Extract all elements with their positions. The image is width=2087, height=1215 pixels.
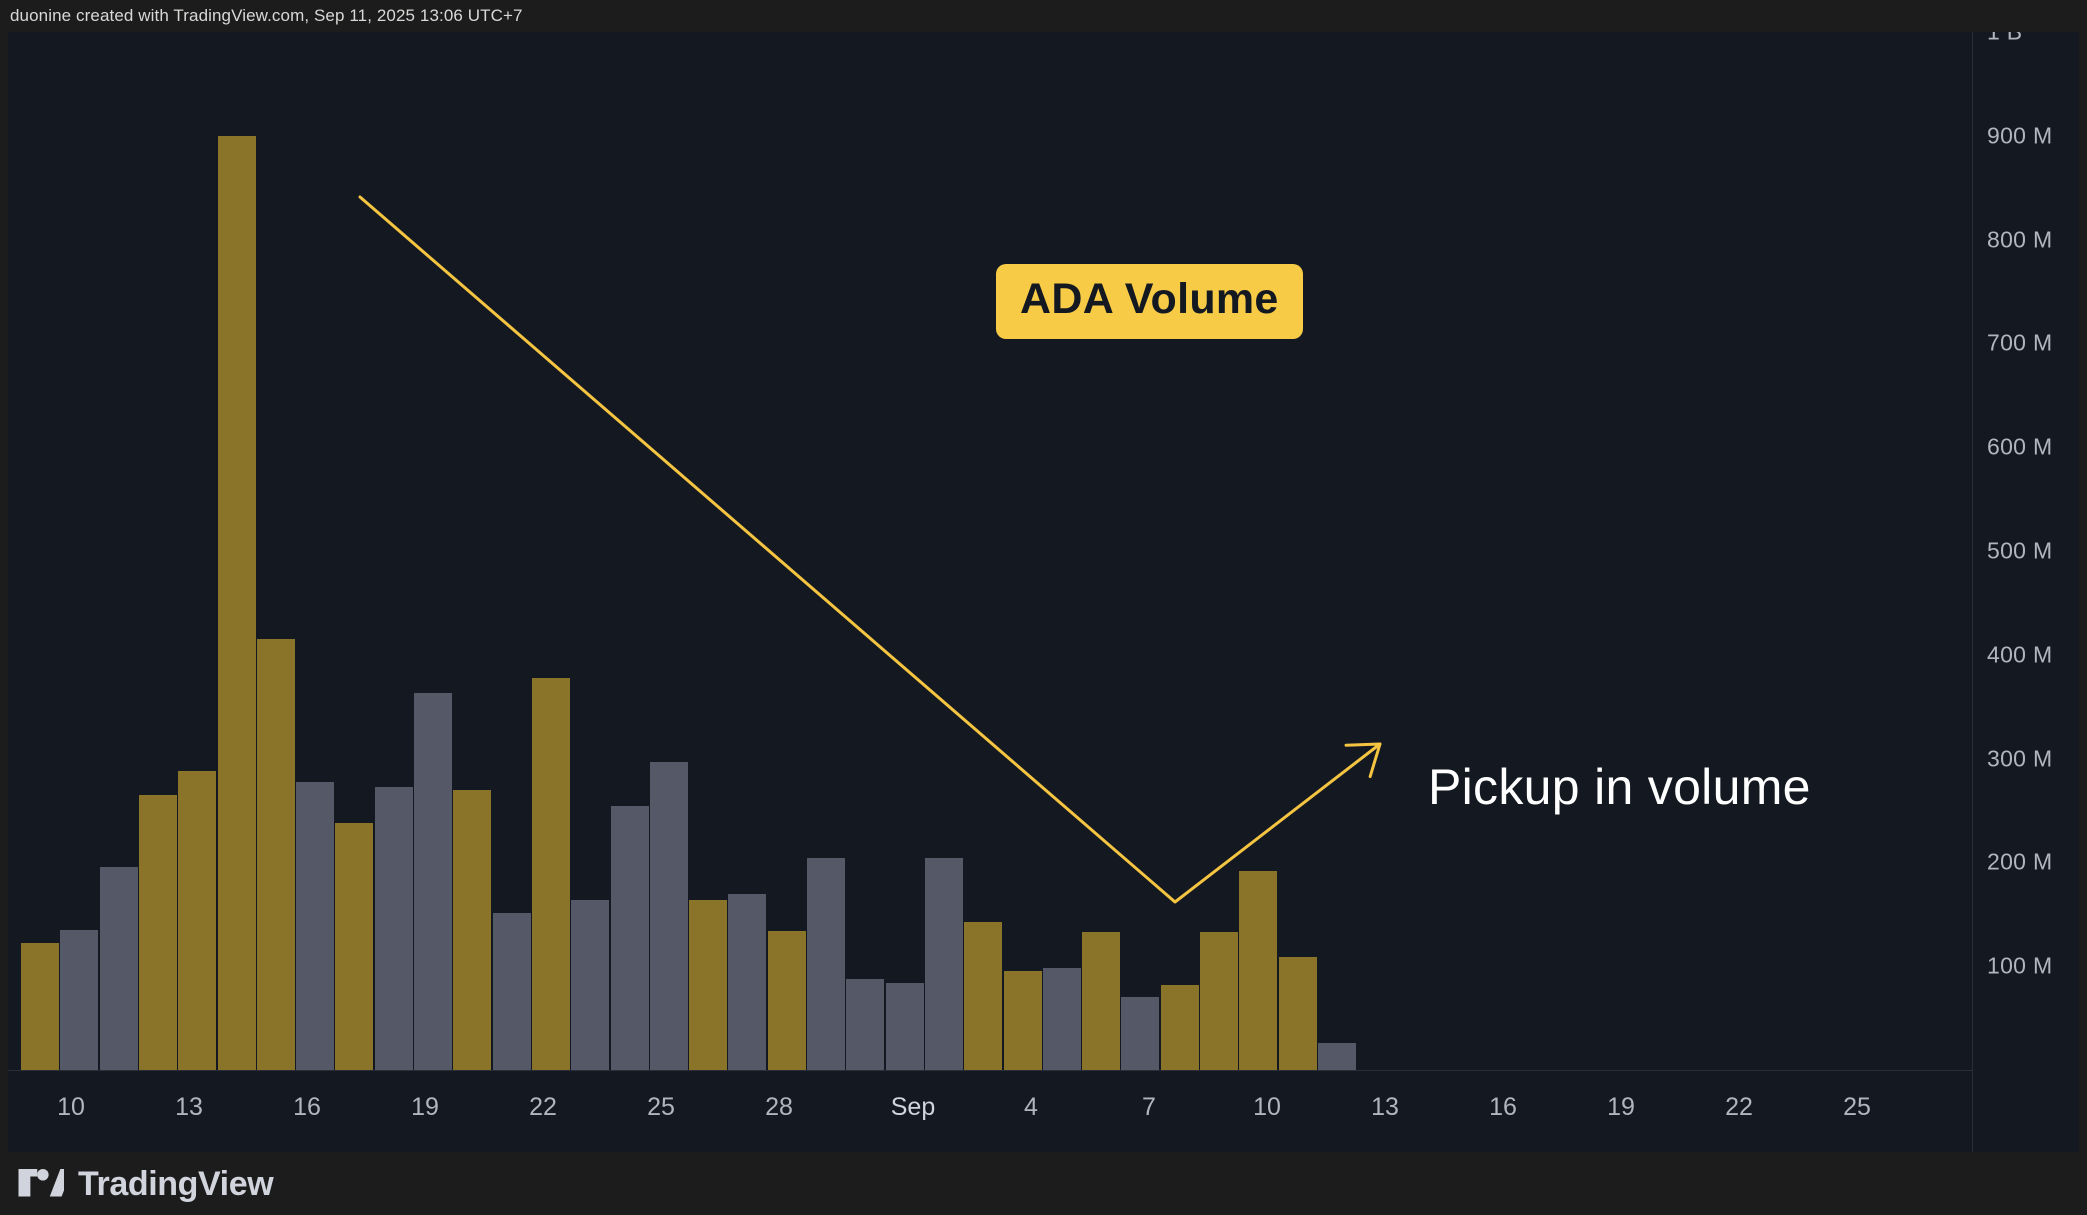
volume-bar [1004, 971, 1042, 1070]
time-tick-label: 25 [647, 1093, 675, 1122]
price-tick-label: 600 M [1987, 434, 2052, 461]
time-tick-label: 13 [1371, 1093, 1399, 1122]
plot-area[interactable]: ADA Volume Pickup in volume [8, 32, 1973, 1070]
price-tick-label: 500 M [1987, 538, 2052, 565]
volume-bars [8, 32, 1973, 1070]
time-scale[interactable]: 10131619222528Sep47101316192225 [8, 1070, 1973, 1152]
time-tick-label: 13 [175, 1093, 203, 1122]
time-tick-label: 19 [411, 1093, 439, 1122]
time-tick-label: 4 [1024, 1093, 1038, 1122]
price-tick-label: 700 M [1987, 330, 2052, 357]
volume-bar [1082, 932, 1120, 1070]
volume-bar [139, 795, 177, 1070]
volume-bar [650, 762, 688, 1070]
volume-bar [571, 900, 609, 1070]
price-tick-label: 400 M [1987, 641, 2052, 668]
volume-bar [1200, 932, 1238, 1070]
volume-bar [689, 900, 727, 1070]
volume-bar [728, 894, 766, 1070]
volume-bar [532, 678, 570, 1070]
ada-volume-badge[interactable]: ADA Volume [996, 264, 1303, 339]
volume-bar [964, 922, 1002, 1070]
chart-frame: ADA Volume Pickup in volume 101316192225… [8, 32, 2079, 1152]
volume-bar [414, 693, 452, 1070]
time-tick-label: 28 [765, 1093, 793, 1122]
time-tick-label: 22 [1725, 1093, 1753, 1122]
tradingview-logo-icon [18, 1169, 64, 1199]
volume-bar [453, 790, 491, 1070]
time-tick-label: 16 [1489, 1093, 1517, 1122]
tradingview-chart-screenshot: duonine created with TradingView.com, Se… [0, 0, 2087, 1215]
volume-bar [807, 858, 845, 1070]
volume-bar [611, 806, 649, 1070]
volume-bar [257, 639, 295, 1070]
volume-bar [1121, 997, 1159, 1070]
time-tick-label: 16 [293, 1093, 321, 1122]
volume-bar [768, 931, 806, 1070]
volume-bar [335, 823, 373, 1070]
volume-bar [1318, 1043, 1356, 1070]
tradingview-logo[interactable]: TradingView [18, 1167, 273, 1201]
price-scale[interactable]: 1 B900 M800 M700 M600 M500 M400 M300 M20… [1972, 32, 2079, 1152]
price-tick-label: 300 M [1987, 745, 2052, 772]
volume-bar [296, 782, 334, 1070]
price-tick-label: 800 M [1987, 226, 2052, 253]
volume-bar [925, 858, 963, 1070]
volume-bar [21, 943, 59, 1070]
volume-bar [375, 787, 413, 1070]
volume-bar [886, 983, 924, 1070]
attribution-text: duonine created with TradingView.com, Se… [10, 6, 523, 26]
chart-header: duonine created with TradingView.com, Se… [0, 0, 2087, 32]
price-tick-label: 100 M [1987, 953, 2052, 980]
volume-bar [218, 136, 256, 1070]
volume-bar [1239, 871, 1277, 1070]
time-tick-label: Sep [891, 1093, 935, 1122]
price-tick-label: 1 B [1987, 32, 2022, 46]
volume-bar [846, 979, 884, 1070]
time-tick-label: 10 [1253, 1093, 1281, 1122]
chart-footer: TradingView [0, 1152, 2087, 1215]
pickup-in-volume-note[interactable]: Pickup in volume [1428, 762, 1811, 812]
volume-bar [100, 867, 138, 1070]
price-tick-label: 200 M [1987, 849, 2052, 876]
volume-bar [1161, 985, 1199, 1070]
time-tick-label: 7 [1142, 1093, 1156, 1122]
time-tick-label: 10 [57, 1093, 85, 1122]
tradingview-wordmark: TradingView [78, 1167, 273, 1201]
time-tick-label: 25 [1843, 1093, 1871, 1122]
volume-bar [493, 913, 531, 1070]
volume-bar [60, 930, 98, 1070]
time-tick-label: 19 [1607, 1093, 1635, 1122]
time-tick-label: 22 [529, 1093, 557, 1122]
volume-bar [1043, 968, 1081, 1070]
price-tick-label: 900 M [1987, 122, 2052, 149]
volume-bar [1279, 957, 1317, 1070]
volume-bar [178, 771, 216, 1070]
